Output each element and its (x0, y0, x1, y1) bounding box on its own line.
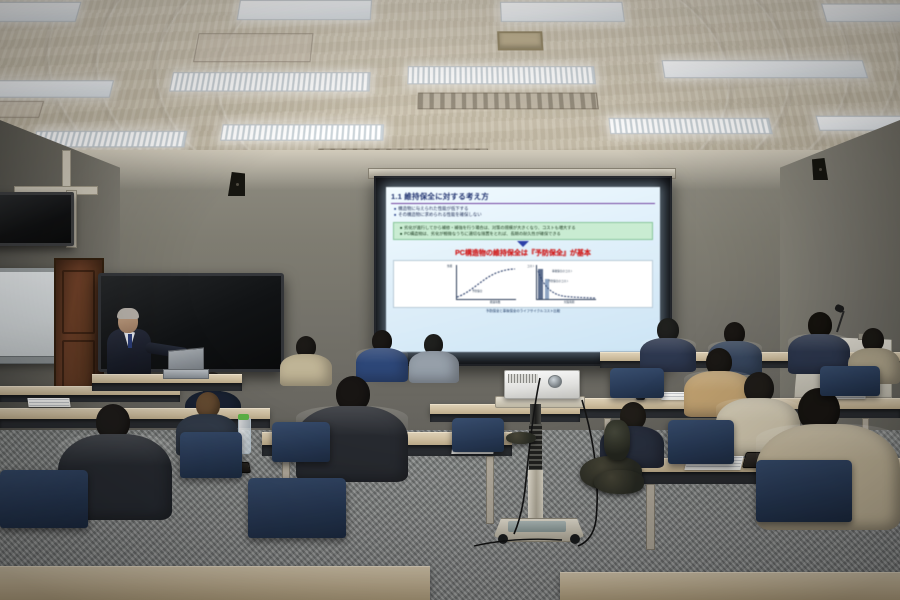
ceiling-light-panel (0, 2, 81, 22)
chart-right-ylabel: コスト (527, 264, 535, 268)
projection-screen: 1.1 維持保全に対する考え方 構造物に与えられた性能が低下する その構造物に求… (374, 176, 672, 366)
ceiling-light-panel (821, 4, 900, 22)
ceiling-light-panel (500, 2, 625, 22)
presenter-hair (117, 308, 139, 319)
ceiling-light-panel (237, 0, 372, 20)
slide-chart-left: 性能 予防保全 経過年数 (446, 263, 520, 305)
ceiling-light-panel (169, 72, 371, 91)
chart-right-series-label: 事後保全のコスト (552, 269, 573, 273)
ceiling-vent (417, 93, 598, 110)
laptop-keyboard[interactable] (163, 369, 209, 379)
chart-right-xlabel: 対策時期 (564, 300, 574, 304)
floor-bag (594, 470, 644, 494)
ceiling-light-panel (0, 80, 114, 97)
ceiling-light-panel (407, 66, 596, 84)
slide-chart-right: コスト 事後保全のコスト 予防保全のコスト 対策時期 (526, 263, 600, 305)
chair[interactable] (610, 368, 664, 398)
chair[interactable] (756, 460, 852, 522)
ceiling-mounted-monitor (0, 192, 74, 246)
chair[interactable] (248, 478, 346, 538)
slide-down-arrow-icon (517, 241, 529, 247)
chair[interactable] (0, 470, 88, 528)
chart-right-series-label: 予防保全のコスト (548, 279, 569, 283)
bottle-cap (238, 414, 249, 420)
desk-skirt (92, 383, 242, 391)
chart-left-curve (456, 267, 516, 299)
whiteboard-tray (0, 356, 60, 364)
ceiling-tile (193, 33, 314, 62)
desk-foreground-right (560, 572, 900, 600)
desk-foreground-left (0, 566, 430, 600)
slide-chart-row: 性能 予防保全 経過年数 コスト (393, 260, 653, 308)
ceiling-light-panel (608, 118, 772, 134)
desk-leg (486, 456, 494, 524)
ceiling-projector-mount (497, 31, 543, 50)
presenter-tie (128, 334, 132, 348)
chair[interactable] (668, 420, 734, 464)
chair[interactable] (272, 422, 330, 462)
projector-lens (548, 375, 562, 388)
slide-green-bullet: PC構造物は、劣化が軽微なうちに適切な措置をとれば、長期の耐久性が確保できる (400, 231, 649, 237)
slide-green-box: 劣化が進行してから補修・補強を行う場合は、対策の規模が大きくなり、コストも増大す… (393, 222, 653, 240)
floor-cable-coil (506, 432, 536, 444)
slide-title: 1.1 維持保全に対する考え方 (391, 191, 655, 204)
chair[interactable] (820, 366, 880, 396)
paper-handout (27, 398, 70, 407)
projector-vent (508, 374, 538, 383)
door-panel (62, 270, 95, 334)
chair[interactable] (180, 432, 242, 478)
lecture-room-photo: 1.1 維持保全に対する考え方 構造物に与えられた性能が低下する その構造物に求… (0, 0, 900, 600)
projector-cart-column (528, 470, 543, 526)
chart-left-xlabel: 経過年数 (490, 300, 500, 304)
chair[interactable] (452, 418, 504, 452)
chart-left-note: 予防保全 (472, 289, 482, 293)
projector-cart-base-plate (508, 521, 566, 532)
projected-slide: 1.1 維持保全に対する考え方 構造物に与えられた性能が低下する その構造物に求… (386, 187, 660, 352)
ceiling-light-panel (662, 60, 869, 78)
desk-leg (646, 484, 655, 550)
ceiling-tile (0, 101, 44, 118)
ceiling-light-panel (220, 124, 384, 140)
cart-caster-wheel (570, 534, 580, 544)
chart-left-ylabel: 性能 (447, 264, 452, 268)
slide-caption: 予防保全と事後保全のライフサイクルコスト比較 (391, 309, 655, 313)
chart-axis-x (456, 299, 516, 300)
slide-highlight-text: PC構造物の維持保全は『予防保全』が基本 (391, 248, 655, 258)
cart-caster-wheel (498, 534, 508, 544)
floor-bag (604, 420, 630, 460)
slide-bullet: その構造物に求められる性能を確保しない (394, 212, 655, 218)
